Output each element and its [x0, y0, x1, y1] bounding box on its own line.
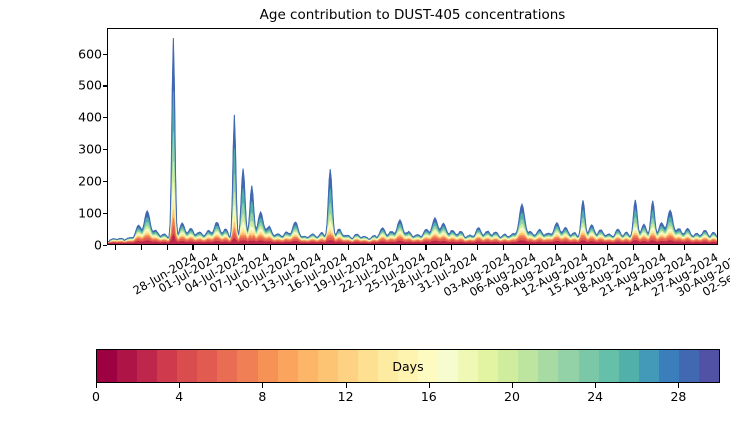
x-tick-mark	[167, 245, 168, 250]
colorbar-bin	[338, 350, 358, 382]
colorbar-bin	[358, 350, 378, 382]
colorbar-tick-mark	[262, 383, 263, 388]
x-tick-mark	[296, 245, 297, 250]
colorbar-tick-marks	[96, 383, 720, 388]
colorbar-tick-label: 8	[258, 389, 266, 404]
stacked-area-series	[108, 29, 717, 244]
colorbar-bin	[237, 350, 257, 382]
colorbar-gradient	[96, 349, 720, 383]
colorbar-tick-label: 16	[421, 389, 437, 404]
x-tick-mark	[633, 245, 634, 250]
y-tick-label: 100	[78, 206, 102, 221]
area-band-6	[108, 161, 717, 244]
x-tick-mark	[607, 245, 608, 250]
colorbar-bin	[117, 350, 137, 382]
x-tick-mark	[348, 245, 349, 250]
x-tick-mark	[270, 245, 271, 250]
colorbar-bin	[558, 350, 578, 382]
colorbar-tick-mark	[512, 383, 513, 388]
colorbar-tick-label: 28	[670, 389, 686, 404]
colorbar-tick-label: 24	[587, 389, 603, 404]
figure-canvas: Age contribution to DUST-405 concentrati…	[0, 0, 730, 425]
colorbar-bin	[378, 350, 398, 382]
colorbar-bin	[438, 350, 458, 382]
x-tick-mark	[374, 245, 375, 250]
colorbar-bin	[318, 350, 338, 382]
x-tick-mark	[244, 245, 245, 250]
colorbar-tick-mark	[678, 383, 679, 388]
x-tick-mark	[555, 245, 556, 250]
colorbar-bin	[157, 350, 177, 382]
colorbar-bin	[217, 350, 237, 382]
x-tick-mark	[529, 245, 530, 250]
colorbar-bin	[97, 350, 117, 382]
colorbar-bin	[679, 350, 699, 382]
total-envelope-line	[108, 38, 717, 241]
y-tick-label: 600	[78, 46, 102, 61]
x-tick-mark	[322, 245, 323, 250]
area-band-7	[108, 132, 717, 244]
x-tick-mark	[400, 245, 401, 250]
colorbar-bin	[599, 350, 619, 382]
colorbar-bin	[478, 350, 498, 382]
colorbar-tick-mark	[595, 383, 596, 388]
colorbar-bin	[278, 350, 298, 382]
x-tick-mark	[141, 245, 142, 250]
y-tick-label: 500	[78, 78, 102, 93]
colorbar-tick-label: 12	[338, 389, 354, 404]
y-axis-tick-labels: 0100200300400500600	[57, 28, 102, 245]
colorbar-tick-mark	[429, 383, 430, 388]
colorbar-bin	[538, 350, 558, 382]
y-tick-label: 200	[78, 174, 102, 189]
y-tick-label: 300	[78, 142, 102, 157]
colorbar-bin	[518, 350, 538, 382]
x-tick-mark	[658, 245, 659, 250]
colorbar-tick-mark	[179, 383, 180, 388]
colorbar-tick-label: 0	[92, 389, 100, 404]
x-tick-mark	[192, 245, 193, 250]
colorbar-bin	[398, 350, 418, 382]
area-band-9	[108, 38, 717, 244]
colorbar-bin	[458, 350, 478, 382]
colorbar-tick-labels: 0481216202428	[96, 389, 720, 409]
x-tick-mark	[503, 245, 504, 250]
colorbar-bin	[418, 350, 438, 382]
y-tick-label: 400	[78, 110, 102, 125]
colorbar-bin	[639, 350, 659, 382]
colorbar-bin	[258, 350, 278, 382]
x-tick-mark	[477, 245, 478, 250]
colorbar-bin	[197, 350, 217, 382]
x-tick-mark	[581, 245, 582, 250]
colorbar-bin	[659, 350, 679, 382]
colorbar-bin	[579, 350, 599, 382]
page-title: Age contribution to DUST-405 concentrati…	[107, 7, 718, 23]
colorbar-tick-mark	[346, 383, 347, 388]
y-tick-label: 0	[94, 238, 102, 253]
x-tick-mark	[684, 245, 685, 250]
colorbar-bin	[298, 350, 318, 382]
colorbar-bin	[137, 350, 157, 382]
colorbar-bin	[177, 350, 197, 382]
colorbar-tick-label: 4	[175, 389, 183, 404]
area-band-8	[108, 91, 717, 244]
x-tick-mark	[218, 245, 219, 250]
colorbar-bin	[498, 350, 518, 382]
x-tick-mark	[451, 245, 452, 250]
colorbar: Days	[96, 349, 720, 383]
x-tick-mark	[425, 245, 426, 250]
colorbar-bin	[619, 350, 639, 382]
colorbar-tick-mark	[96, 383, 97, 388]
colorbar-bin	[699, 350, 719, 382]
plot-area	[107, 28, 718, 245]
x-axis-tick-labels: 28-Jun-202401-Jul-202404-Jul-202407-Jul-…	[107, 250, 718, 330]
x-tick-mark	[115, 245, 116, 250]
colorbar-tick-label: 20	[504, 389, 520, 404]
